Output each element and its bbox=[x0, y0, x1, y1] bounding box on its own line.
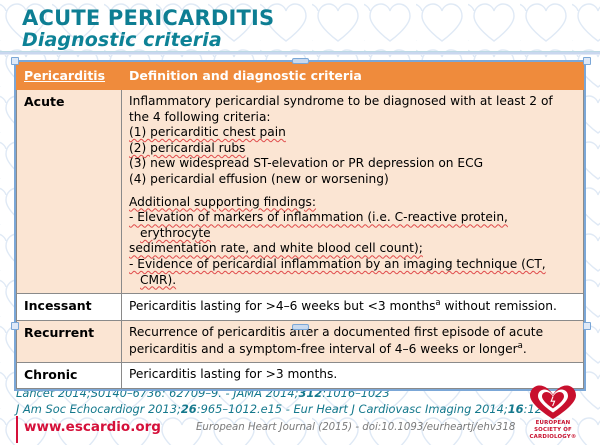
acute-supporting-1a: - Elevation of markers of inflammation (… bbox=[129, 210, 576, 241]
row-label-recurrent: Recurrent bbox=[17, 320, 122, 362]
esc-logo-line-2: SOCIETY OF bbox=[534, 427, 572, 433]
esc-logo-label: EUROPEAN SOCIETY OF CARDIOLOGY® bbox=[520, 420, 586, 441]
recurrent-line-1: Recurrence of pericarditis after a docum… bbox=[129, 325, 576, 341]
incessant-text-1: Pericarditis lasting for >4–6 weeks but … bbox=[129, 299, 435, 313]
row-content-acute: Inflammatory pericardial syndrome to be … bbox=[122, 90, 584, 294]
esc-logo-line-1: EUROPEAN bbox=[536, 420, 571, 426]
criteria-table: Pericarditis Definition and diagnostic c… bbox=[16, 62, 584, 389]
row-content-recurrent: Recurrence of pericarditis after a docum… bbox=[122, 320, 584, 362]
acute-line-1: Inflammatory pericardial syndrome to be … bbox=[129, 94, 576, 110]
acute-criterion-2: (2) pericardial rubs bbox=[129, 141, 576, 157]
recurrent-line-2: pericarditis and a symptom-free interval… bbox=[129, 342, 518, 356]
row-label-acute: Acute bbox=[17, 90, 122, 294]
table-row: Acute Inflammatory pericardial syndrome … bbox=[17, 90, 584, 294]
selection-handle-bottom-center[interactable] bbox=[292, 324, 309, 330]
header-divider bbox=[0, 51, 600, 56]
slide-header: ACUTE PERICARDITIS Diagnostic criteria bbox=[0, 0, 600, 56]
acute-supporting-2: - Evidence of pericardial inflammation b… bbox=[129, 257, 576, 288]
footer-accent-bar bbox=[16, 416, 18, 443]
acute-line-2: the 4 following criteria: bbox=[129, 110, 576, 126]
row-content-incessant: Pericarditis lasting for >4–6 weeks but … bbox=[122, 294, 584, 321]
recurrent-line-3: . bbox=[523, 342, 527, 356]
journal-citation: European Heart Journal (2015) - doi:10.1… bbox=[196, 422, 515, 433]
column-header-definition: Definition and diagnostic criteria bbox=[122, 63, 584, 90]
recurrent-line-2-wrap: pericarditis and a symptom-free interval… bbox=[129, 341, 576, 358]
site-url-link[interactable]: www.escardio.org bbox=[24, 419, 161, 435]
selection-handle-top-right[interactable] bbox=[583, 57, 591, 65]
esc-logo-line-3: CARDIOLOGY® bbox=[530, 434, 577, 440]
page-subtitle: Diagnostic criteria bbox=[22, 29, 222, 51]
page-title: ACUTE PERICARDITIS bbox=[22, 6, 274, 30]
table-row: Incessant Pericarditis lasting for >4–6 … bbox=[17, 294, 584, 321]
acute-spacer bbox=[129, 188, 576, 195]
acute-supporting-heading: Additional supporting findings: bbox=[129, 195, 576, 211]
selection-handle-bottom-right[interactable] bbox=[583, 322, 591, 330]
acute-criterion-3: (3) new widespread ST-elevation or PR de… bbox=[129, 156, 576, 172]
criteria-table-container[interactable]: Pericarditis Definition and diagnostic c… bbox=[14, 60, 586, 391]
row-label-chronic: Chronic bbox=[17, 363, 122, 389]
column-header-pericarditis: Pericarditis bbox=[17, 63, 122, 90]
table-header-row: Pericarditis Definition and diagnostic c… bbox=[17, 63, 584, 90]
footer: www.escardio.org European Heart Journal … bbox=[0, 414, 600, 445]
acute-criterion-1: (1) pericarditic chest pain bbox=[129, 125, 576, 141]
incessant-text-2: without remission. bbox=[441, 299, 557, 313]
row-label-incessant: Incessant bbox=[17, 294, 122, 321]
esc-logo: EUROPEAN SOCIETY OF CARDIOLOGY® bbox=[520, 384, 586, 440]
selection-handle-top-left[interactable] bbox=[11, 57, 19, 65]
column-header-pericarditis-label: Pericarditis bbox=[24, 68, 105, 83]
table-row: Chronic Pericarditis lasting for >3 mont… bbox=[17, 363, 584, 389]
selection-handle-bottom-left[interactable] bbox=[11, 322, 19, 330]
esc-heart-icon bbox=[520, 384, 586, 420]
row-content-chronic: Pericarditis lasting for >3 months. bbox=[122, 363, 584, 389]
acute-supporting-1b: sedimentation rate, and white blood cell… bbox=[129, 241, 576, 257]
acute-criterion-4: (4) pericardial effusion (new or worseni… bbox=[129, 172, 576, 188]
selection-handle-top-center[interactable] bbox=[292, 58, 309, 64]
